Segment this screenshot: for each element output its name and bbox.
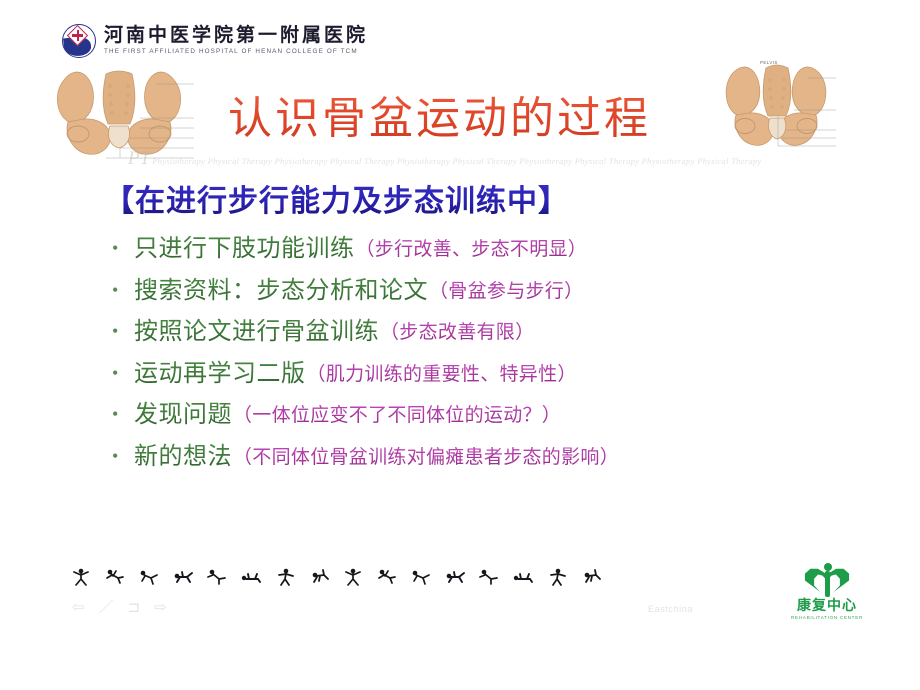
list-item: • 新的想法 （不同体位骨盆训练对偏瘫患者步态的影响） [112,436,892,478]
heart-person-icon [804,563,850,597]
bullet-dot-icon: • [112,364,134,382]
bullet-note-text: （步行改善、步态不明显） [356,234,588,261]
bullet-dot-icon: • [112,281,134,299]
pt-watermark-text: Physiotherapy Physical Therapy Physiothe… [152,156,761,166]
pelvis-caption: PELVIS [760,60,778,65]
arrow-left-icon[interactable]: ⇦ [72,600,85,615]
list-item: • 搜索资料：步态分析和论文 （骨盆参与步行） [112,270,892,312]
arrow-right-icon[interactable]: ⇨ [154,600,167,615]
bullet-note-text: （骨盆参与步行） [429,276,583,303]
pen-icon[interactable]: ／ [99,600,114,615]
bullet-main-text: 只进行下肢功能训练 [134,228,355,263]
pelvis-anatomy-image-left [44,62,194,160]
list-item: • 只进行下肢功能训练 （步行改善、步态不明显） [112,228,892,270]
bullet-main-text: 运动再学习二版 [134,353,306,388]
hospital-logo-text: 河南中医学院第一附属医院 THE FIRST AFFILIATED HOSPIT… [104,26,368,55]
source-watermark: Eastchina [648,604,693,614]
athlete-figure-icon [308,566,330,586]
section-heading: 【在进行步行能力及步态训练中】 [104,176,569,220]
rectangle-icon[interactable]: ⊐ [128,600,141,615]
pelvis-anatomy-image-right [716,58,836,150]
athlete-figure-icon [104,566,126,586]
pt-watermark-strip: PT Physiotherapy Physical Therapy Physio… [128,148,918,170]
figure-silhouette-row [70,562,670,586]
bullet-note-text: （一体位应变不了不同体位的运动？） [233,400,561,427]
athlete-figure-icon [410,566,432,586]
rehab-logo-name-cn: 康复中心 [782,599,872,614]
athlete-figure-icon [376,566,398,586]
bullet-dot-icon: • [112,322,134,340]
bullet-main-text: 搜索资料：步态分析和论文 [134,270,428,305]
pt-watermark-mark: PT [128,148,150,170]
athlete-figure-icon [172,566,194,586]
bullet-main-text: 发现问题 [134,394,232,429]
athlete-figure-icon [70,566,92,586]
athlete-figure-icon [138,566,160,586]
slide-canvas: 河南中医学院第一附属医院 THE FIRST AFFILIATED HOSPIT… [0,0,920,690]
rehab-logo-name-en: REHABILITATION CENTER [782,615,872,620]
rehabilitation-center-logo: 康复中心 REHABILITATION CENTER [782,563,872,620]
athlete-figure-icon [512,566,534,586]
bullet-dot-icon: • [112,239,134,257]
athlete-figure-icon [546,566,568,586]
athlete-figure-icon [206,566,228,586]
athlete-figure-icon [478,566,500,586]
athlete-figure-icon [240,566,262,586]
page-title: 认识骨盆运动的过程 [228,82,651,146]
list-item: • 发现问题 （一体位应变不了不同体位的运动？） [112,394,892,436]
slide-nav-controls[interactable]: ⇦ ／ ⊐ ⇨ [72,600,167,615]
athlete-figure-icon [444,566,466,586]
bullet-main-text: 新的想法 [134,436,232,471]
bullet-list: • 只进行下肢功能训练 （步行改善、步态不明显） • 搜索资料：步态分析和论文 … [112,228,892,477]
list-item: • 按照论文进行骨盆训练 （步态改善有限） [112,311,892,353]
bullet-dot-icon: • [112,405,134,423]
hospital-name-cn: 河南中医学院第一附属医院 [104,26,368,45]
athlete-figure-icon [274,566,296,586]
list-item: • 运动再学习二版 （肌力训练的重要性、特异性） [112,353,892,395]
bullet-note-text: （不同体位骨盆训练对偏瘫患者步态的影响） [233,442,619,469]
bullet-dot-icon: • [112,447,134,465]
hospital-logo: 河南中医学院第一附属医院 THE FIRST AFFILIATED HOSPIT… [62,24,368,58]
bullet-note-text: （肌力训练的重要性、特异性） [307,359,577,386]
athlete-figure-icon [580,566,602,586]
hospital-name-en: THE FIRST AFFILIATED HOSPITAL OF HENAN C… [104,49,368,55]
hospital-cross-logo-icon [62,24,96,58]
bullet-main-text: 按照论文进行骨盆训练 [134,311,379,346]
athlete-figure-icon [342,566,364,586]
bullet-note-text: （步态改善有限） [380,317,534,344]
